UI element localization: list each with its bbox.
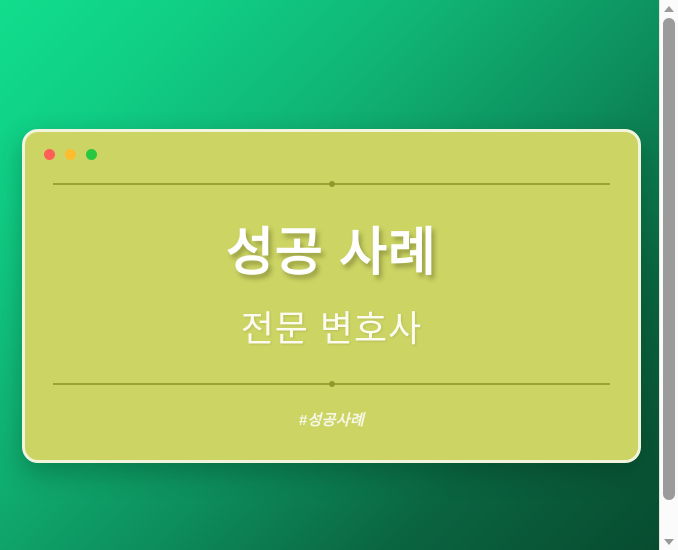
presentation-slide-card[interactable]: 성공 사례 전문 변호사 #성공사례 [22,129,641,463]
triangle-down-glyph [664,539,674,545]
slide-content: 성공 사례 전문 변호사 #성공사례 [25,132,638,460]
divider-top [53,179,610,188]
scroll-down-arrow-icon[interactable] [660,533,678,550]
scroll-up-arrow-icon[interactable] [660,0,678,17]
divider-center-dot-icon [329,181,335,187]
triangle-up-glyph [664,6,674,12]
screenshot-viewport: 성공 사례 전문 변호사 #성공사례 [0,0,678,550]
divider-bottom [53,379,610,388]
scrollbar-thumb[interactable] [663,18,675,500]
slide-hashtag: #성공사례 [25,409,638,430]
slide-background: 성공 사례 전문 변호사 #성공사례 [0,0,659,550]
vertical-scrollbar[interactable] [659,0,678,550]
slide-title: 성공 사례 [25,210,638,285]
divider-center-dot-icon [329,381,335,387]
slide-subtitle: 전문 변호사 [25,300,638,352]
